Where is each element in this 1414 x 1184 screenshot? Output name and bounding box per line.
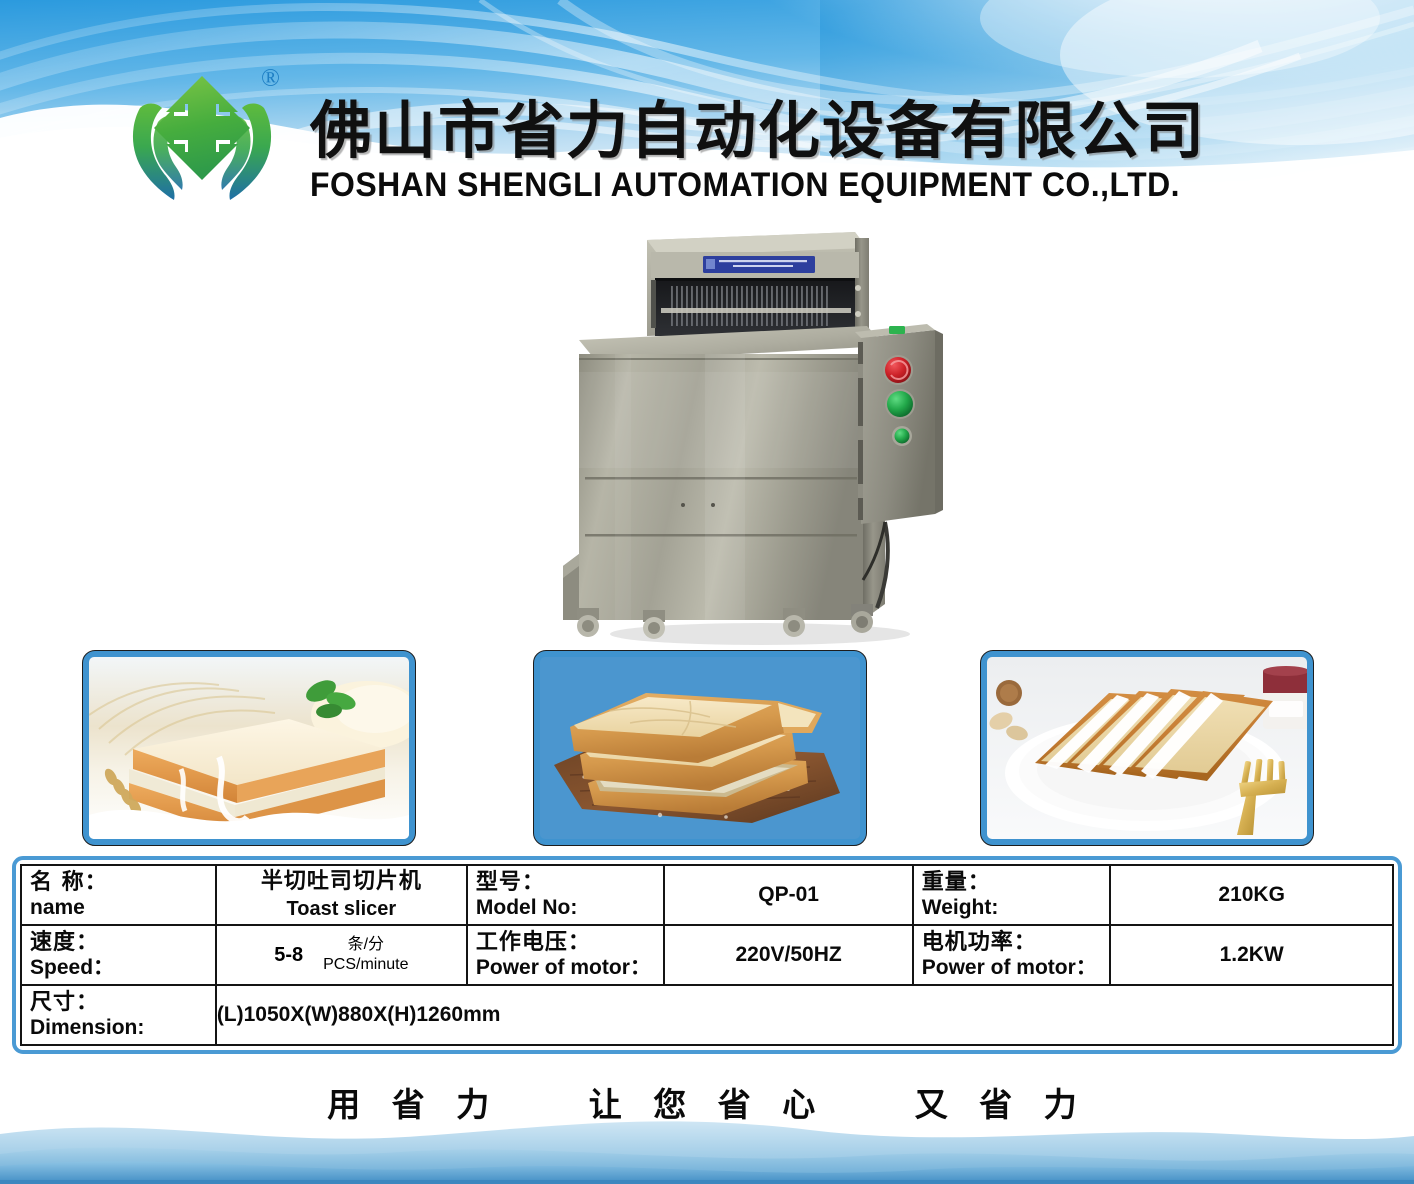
label-speed-en: Speed： <box>30 956 215 980</box>
label-model-cn: 型号： <box>476 870 664 896</box>
stacked-toast-slices-with-mint-image <box>89 657 409 839</box>
half-cut-toast-on-plate-image <box>987 657 1307 839</box>
label-voltage-en: Power of motor： <box>476 956 664 980</box>
table-row-speed: 速度： Speed： 5-8 条/分 PCS/minute <box>21 925 1393 985</box>
value-name-cn: 半切吐司切片机 <box>217 868 466 897</box>
company-name-en: FOSHAN SHENGLI AUTOMATION EQUIPMENT CO.,… <box>310 167 1180 204</box>
value-speed-unit-cn: 条/分 <box>348 936 384 953</box>
product-photo-2 <box>533 650 867 846</box>
label-weight-en: Weight: <box>922 896 1110 920</box>
value-speed-unit-en: PCS/minute <box>323 956 408 973</box>
brand-block: ® 佛山市省力自动化设备有限公司 FOSHAN SHENGLI AUTOMATI… <box>0 0 1414 218</box>
label-voltage-cn: 工作电压： <box>476 930 664 956</box>
label-name-cn: 名 称： <box>30 870 215 896</box>
page-footer <box>0 1108 1414 1184</box>
cell-value-motor-power: 1.2KW <box>1110 925 1393 985</box>
cell-value-speed: 5-8 条/分 PCS/minute <box>216 925 467 985</box>
cell-label-model: 型号： Model No: <box>467 865 665 925</box>
company-name-cn: 佛山市省力自动化设备有限公司 <box>310 99 1236 163</box>
cell-label-weight: 重量： Weight: <box>913 865 1111 925</box>
label-motor-power-cn: 电机功率： <box>922 930 1110 956</box>
registered-trademark-icon: ® <box>261 66 280 91</box>
cell-value-voltage: 220V/50HZ <box>664 925 912 985</box>
cell-label-name: 名 称： name <box>21 865 216 925</box>
footer-wave-decoration <box>0 1108 1414 1184</box>
product-photo-1 <box>82 650 416 846</box>
label-model-en: Model No: <box>476 896 664 920</box>
cell-value-name: 半切吐司切片机 Toast slicer <box>216 865 467 925</box>
power-indicator-light <box>895 429 910 444</box>
value-name-en: Toast slicer <box>217 896 466 922</box>
cell-label-dimension: 尺寸： Dimension: <box>21 985 216 1045</box>
label-motor-power-en: Power of motor： <box>922 956 1110 980</box>
label-speed-cn: 速度： <box>30 930 215 956</box>
cell-label-motor-power: 电机功率： Power of motor： <box>913 925 1111 985</box>
product-photo-row <box>0 650 1414 850</box>
cell-value-model: QP-01 <box>664 865 912 925</box>
panel-top-indicator <box>889 326 905 334</box>
cell-label-speed: 速度： Speed： <box>21 925 216 985</box>
cell-value-weight: 210KG <box>1110 865 1393 925</box>
cell-label-voltage: 工作电压： Power of motor： <box>467 925 665 985</box>
company-logo: ® <box>118 64 286 204</box>
toast-on-wooden-board-image <box>540 657 860 839</box>
toast-slicer-machine-illustration <box>555 222 955 647</box>
machine-photo <box>555 222 955 647</box>
page-header: ® 佛山市省力自动化设备有限公司 FOSHAN SHENGLI AUTOMATI… <box>0 0 1414 218</box>
value-speed-number: 5-8 <box>274 944 303 967</box>
table-row-dimension: 尺寸： Dimension: (L)1050X(W)880X(H)1260mm <box>21 985 1393 1045</box>
label-name-en: name <box>30 896 215 920</box>
cell-value-dimension: (L)1050X(W)880X(H)1260mm <box>216 985 1393 1045</box>
machine-nameplate <box>703 256 815 273</box>
company-titles: 佛山市省力自动化设备有限公司 FOSHAN SHENGLI AUTOMATION… <box>310 99 1236 210</box>
specification-table: 名 称： name 半切吐司切片机 Toast slicer 型号： Model… <box>12 856 1402 1054</box>
start-button <box>887 391 913 417</box>
label-weight-cn: 重量： <box>922 870 1110 896</box>
product-photo-3 <box>980 650 1314 846</box>
table-row-name: 名 称： name 半切吐司切片机 Toast slicer 型号： Model… <box>21 865 1393 925</box>
label-dimension-cn: 尺寸： <box>30 990 215 1016</box>
label-dimension-en: Dimension: <box>30 1016 215 1040</box>
